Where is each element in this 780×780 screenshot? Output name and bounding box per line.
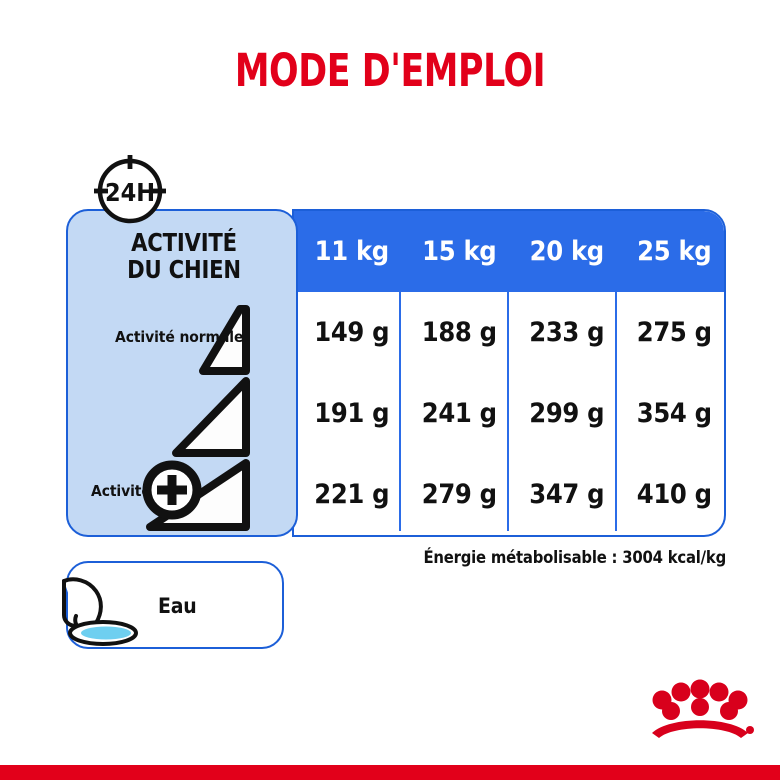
water-label: Eau bbox=[158, 594, 197, 618]
table-column-header: 20 kg bbox=[509, 211, 617, 292]
table-row: 221 g 279 g 347 g 410 g bbox=[294, 454, 724, 535]
bottom-accent-bar bbox=[0, 765, 780, 780]
table-cell: 347 g bbox=[509, 454, 617, 535]
column-divider bbox=[615, 290, 617, 531]
table-cell: 221 g bbox=[294, 454, 402, 535]
table-cell: 299 g bbox=[509, 373, 617, 454]
table-body: 149 g 188 g 233 g 275 g 191 g 241 g 299 … bbox=[294, 292, 724, 535]
column-divider bbox=[507, 290, 509, 531]
activity-label-plus: Activité bbox=[91, 482, 151, 500]
svg-text:24H: 24H bbox=[105, 178, 155, 207]
table-data-area: 11 kg 15 kg 20 kg 25 kg 149 g 188 g 233 … bbox=[292, 209, 726, 537]
feeding-guide-table: 11 kg 15 kg 20 kg 25 kg 149 g 188 g 233 … bbox=[66, 209, 726, 537]
royal-canin-crown-logo bbox=[642, 678, 758, 742]
table-column-header: 11 kg bbox=[294, 211, 402, 292]
table-column-header: 15 kg bbox=[402, 211, 510, 292]
clock-24h-icon: 24H bbox=[93, 152, 167, 226]
activity-panel: ACTIVITÉ DU CHIEN Activité normale Activ… bbox=[66, 209, 298, 537]
activity-panel-title: ACTIVITÉ DU CHIEN bbox=[75, 229, 293, 283]
table-cell: 279 g bbox=[402, 454, 510, 535]
table-cell: 149 g bbox=[294, 292, 402, 373]
table-cell: 188 g bbox=[402, 292, 510, 373]
table-row: 191 g 241 g 299 g 354 g bbox=[294, 373, 724, 454]
table-cell: 275 g bbox=[617, 292, 725, 373]
water-callout-box: Eau bbox=[66, 561, 284, 649]
plus-circle-icon bbox=[147, 465, 197, 515]
table-row: 149 g 188 g 233 g 275 g bbox=[294, 292, 724, 373]
table-cell: 410 g bbox=[617, 454, 725, 535]
table-cell: 233 g bbox=[509, 292, 617, 373]
table-cell: 191 g bbox=[294, 373, 402, 454]
page-title: MODE D'EMPLOI bbox=[55, 44, 726, 97]
table-cell: 354 g bbox=[617, 373, 725, 454]
table-cell: 241 g bbox=[402, 373, 510, 454]
table-header-row: 11 kg 15 kg 20 kg 25 kg bbox=[294, 211, 724, 292]
water-bowl-icon bbox=[62, 571, 158, 647]
table-column-header: 25 kg bbox=[617, 211, 725, 292]
column-divider bbox=[399, 290, 401, 531]
activity-label-normal: Activité normale bbox=[115, 328, 243, 346]
